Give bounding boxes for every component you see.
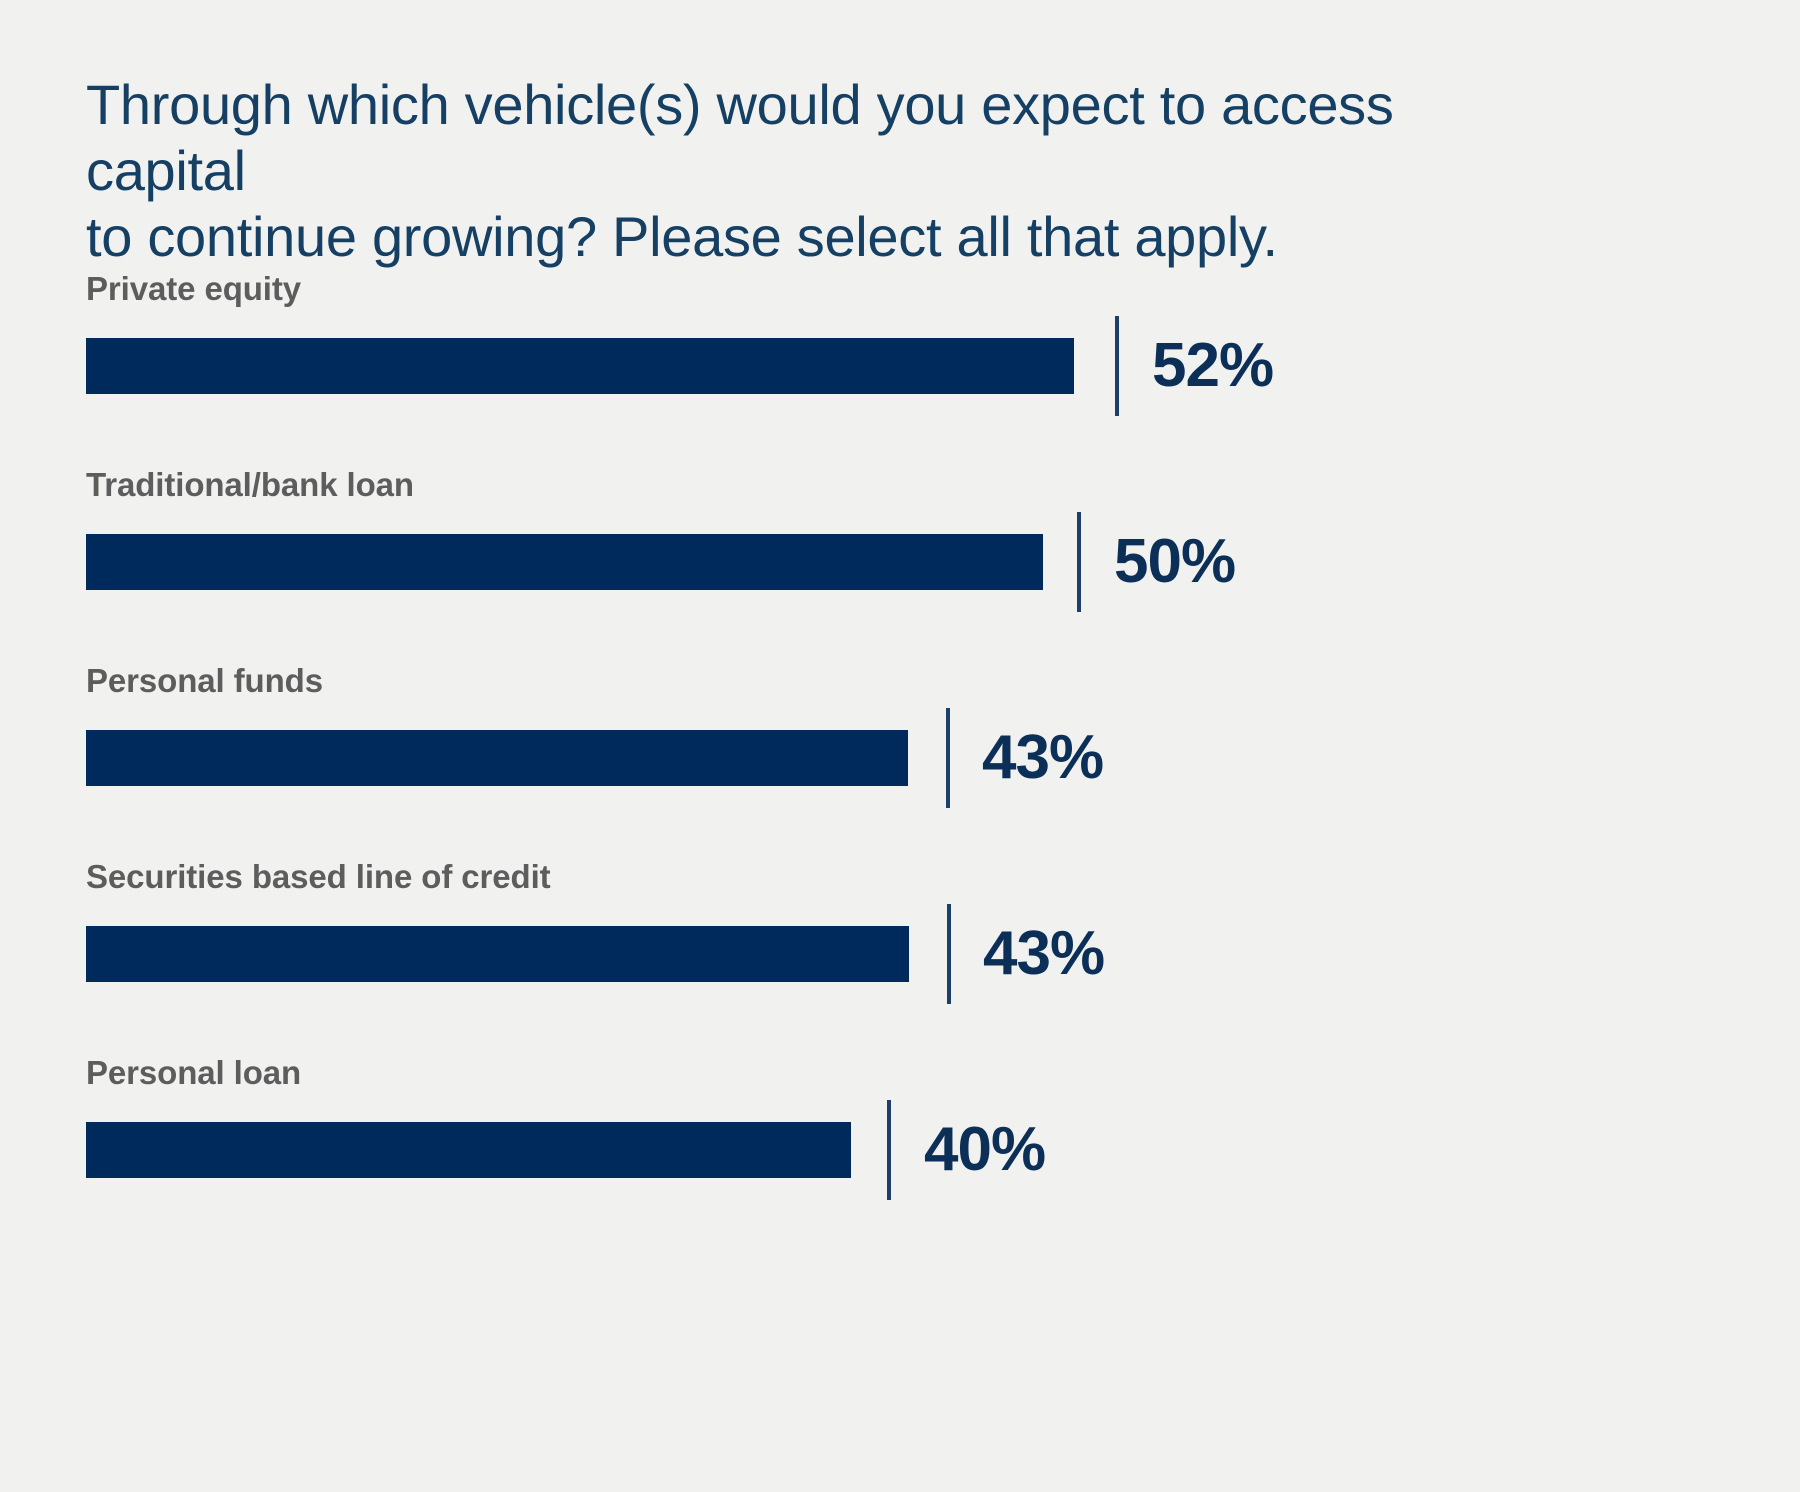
bar-track: 43% [86, 926, 1726, 982]
bar-value-personal-loan: 40% [924, 1104, 1045, 1196]
bar-value-traditional-bank-loan: 50% [1114, 516, 1235, 608]
bar-fill-private-equity [86, 338, 1074, 394]
bar-separator [947, 904, 951, 1004]
bar-separator [946, 708, 950, 808]
bar-value-securities-based-line-of-credit: 43% [983, 908, 1104, 1000]
bar-label-personal-funds: Personal funds [86, 662, 323, 700]
bar-list: Private equity 52% Traditional/bank loan… [0, 262, 1800, 1242]
bar-fill-personal-loan [86, 1122, 851, 1178]
bar-row: Personal funds 43% [0, 654, 1800, 850]
bar-value-personal-funds: 43% [982, 712, 1103, 804]
bar-label-traditional-bank-loan: Traditional/bank loan [86, 466, 414, 504]
page-title: Through which vehicle(s) would you expec… [86, 72, 1546, 270]
bar-fill-securities-based-line-of-credit [86, 926, 909, 982]
bar-row: Personal loan 40% [0, 1046, 1800, 1242]
bar-label-securities-based-line-of-credit: Securities based line of credit [86, 858, 551, 896]
bar-track: 43% [86, 730, 1726, 786]
bar-value-private-equity: 52% [1152, 320, 1273, 412]
bar-track: 52% [86, 338, 1726, 394]
bar-separator [887, 1100, 891, 1200]
bar-label-personal-loan: Personal loan [86, 1054, 301, 1092]
bar-separator [1077, 512, 1081, 612]
bar-track: 40% [86, 1122, 1726, 1178]
bar-separator [1115, 316, 1119, 416]
bar-track: 50% [86, 534, 1726, 590]
bar-row: Securities based line of credit 43% [0, 850, 1800, 1046]
bar-chart: Through which vehicle(s) would you expec… [0, 0, 1800, 1492]
bar-fill-traditional-bank-loan [86, 534, 1043, 590]
bar-row: Traditional/bank loan 50% [0, 458, 1800, 654]
bar-label-private-equity: Private equity [86, 270, 301, 308]
bar-row: Private equity 52% [0, 262, 1800, 458]
bar-fill-personal-funds [86, 730, 908, 786]
